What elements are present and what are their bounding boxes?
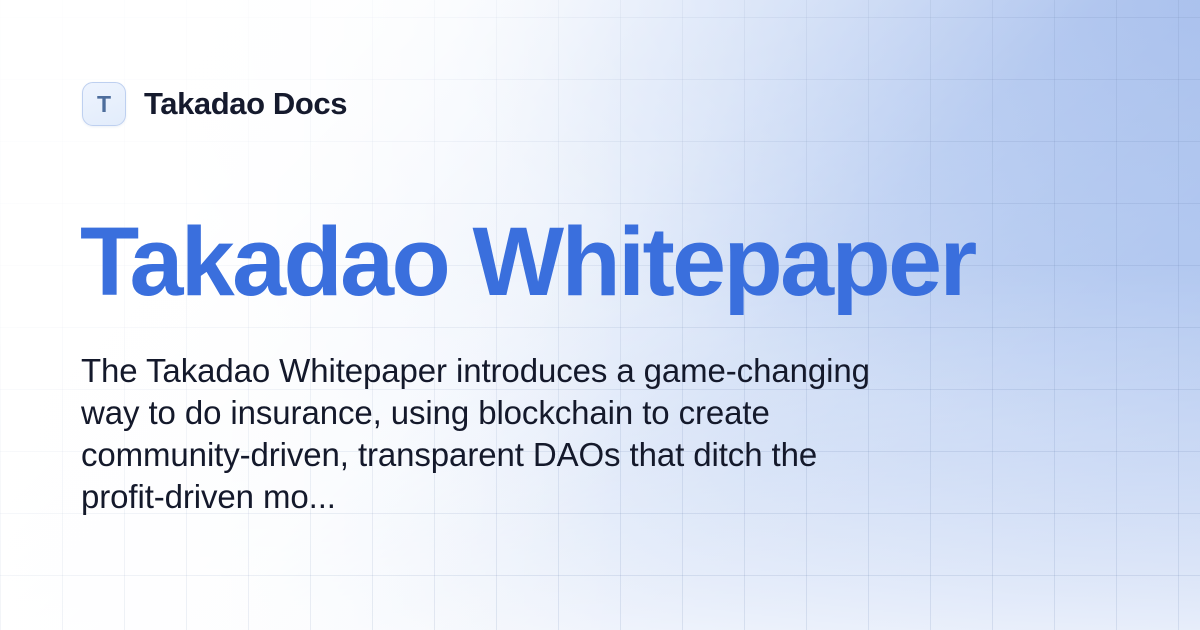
page-title: Takadao Whitepaper <box>80 212 1140 313</box>
card-content: T Takadao Docs Takadao Whitepaper The Ta… <box>0 0 1200 630</box>
brand-logo-letter: T <box>97 93 111 116</box>
og-preview-card: T Takadao Docs Takadao Whitepaper The Ta… <box>0 0 1200 630</box>
page-description: The Takadao Whitepaper introduces a game… <box>81 350 871 518</box>
brand-title: Takadao Docs <box>144 86 347 122</box>
brand-header[interactable]: T Takadao Docs <box>82 82 347 126</box>
brand-logo-badge: T <box>82 82 126 126</box>
